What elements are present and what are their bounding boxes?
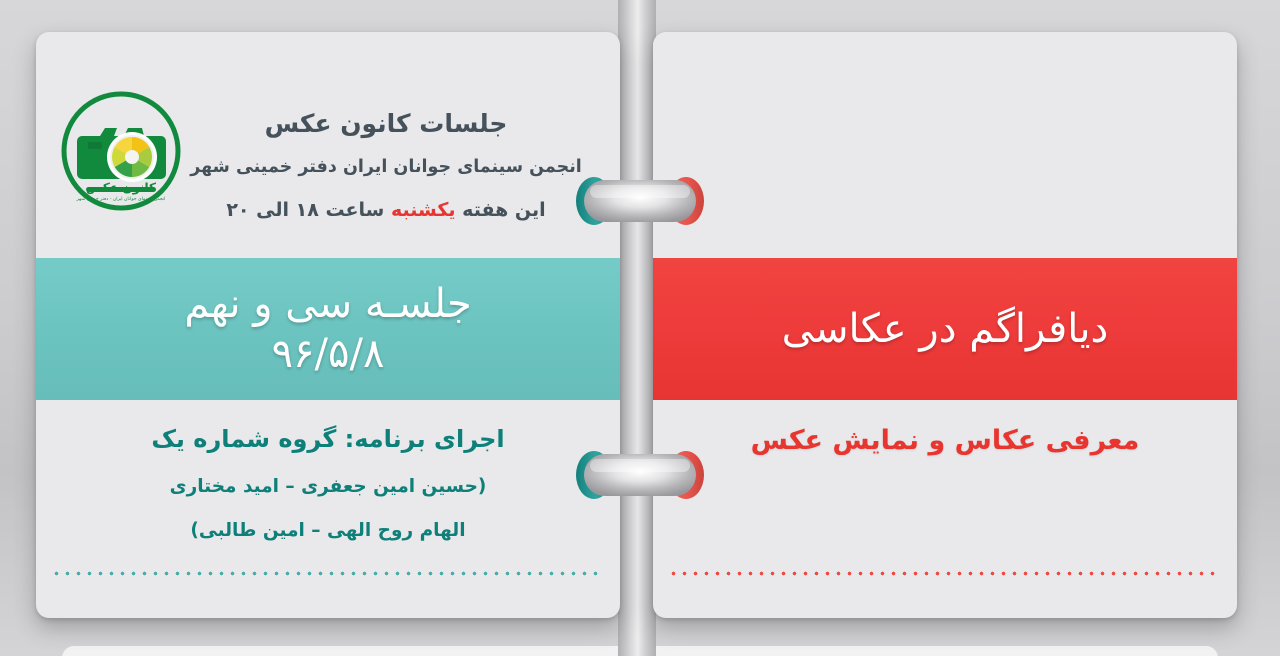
kanoon-aks-camera-logo-icon: کانون عکس انجمن سینمای جوانان ایران - دف…: [60, 90, 182, 212]
connector-bottom-bolt-icon: [566, 446, 714, 504]
svg-text:انجمن سینمای جوانان ایران - دف: انجمن سینمای جوانان ایران - دفتر خمینی ش…: [76, 197, 166, 202]
center-metal-rail: [618, 0, 656, 656]
session-banner: جلسـه سی و نهم ۹۶/۵/۸: [36, 258, 620, 400]
svg-text:کانون عکس: کانون عکس: [86, 181, 156, 196]
page-title: جلسات کانون عکس: [176, 108, 596, 139]
connector-top-bolt-icon: [566, 172, 714, 230]
schedule-time: ساعت ۱۸ الی ۲۰: [226, 199, 384, 221]
crew-members-line-1: (حسین امین جعفری – امید مختاری: [36, 473, 620, 501]
schedule-line: این هفته یکشنبه ساعت ۱۸ الی ۲۰: [176, 198, 596, 223]
left-panel-body: اجرای برنامه: گروه شماره یک (حسین امین ج…: [36, 400, 620, 618]
crew-title: اجرای برنامه: گروه شماره یک: [36, 422, 620, 457]
topic-title: دیافراگم در عکاسی: [782, 306, 1109, 352]
crew-members-line-2: الهام روح الهی – امین طالبی): [36, 517, 620, 545]
right-panel-header: [653, 32, 1237, 258]
poster-stage: کانون عکس انجمن سینمای جوانان ایران - دف…: [0, 0, 1280, 656]
header-text-block: جلسات کانون عکس انجمن سینمای جوانان ایرا…: [176, 108, 596, 223]
schedule-prefix: این هفته: [462, 199, 546, 221]
session-label: جلسـه سی و نهم: [184, 281, 471, 327]
left-panel: کانون عکس انجمن سینمای جوانان ایران - دف…: [36, 32, 620, 618]
right-panel-body: معرفی عکاس و نمایش عکس: [653, 400, 1237, 618]
topic-subtitle: معرفی عکاس و نمایش عکس: [653, 422, 1237, 460]
divider-dots-teal: [54, 571, 602, 576]
schedule-day: یکشنبه: [391, 199, 456, 221]
right-panel: دیافراگم در عکاسی معرفی عکاس و نمایش عکس: [653, 32, 1237, 618]
topic-banner: دیافراگم در عکاسی: [653, 258, 1237, 400]
session-date: ۹۶/۵/۸: [272, 331, 385, 377]
divider-dots-red: [671, 571, 1219, 576]
left-panel-header: کانون عکس انجمن سینمای جوانان ایران - دف…: [36, 32, 620, 258]
organization-name: انجمن سینمای جوانان ایران دفتر خمینی شهر: [176, 156, 596, 179]
